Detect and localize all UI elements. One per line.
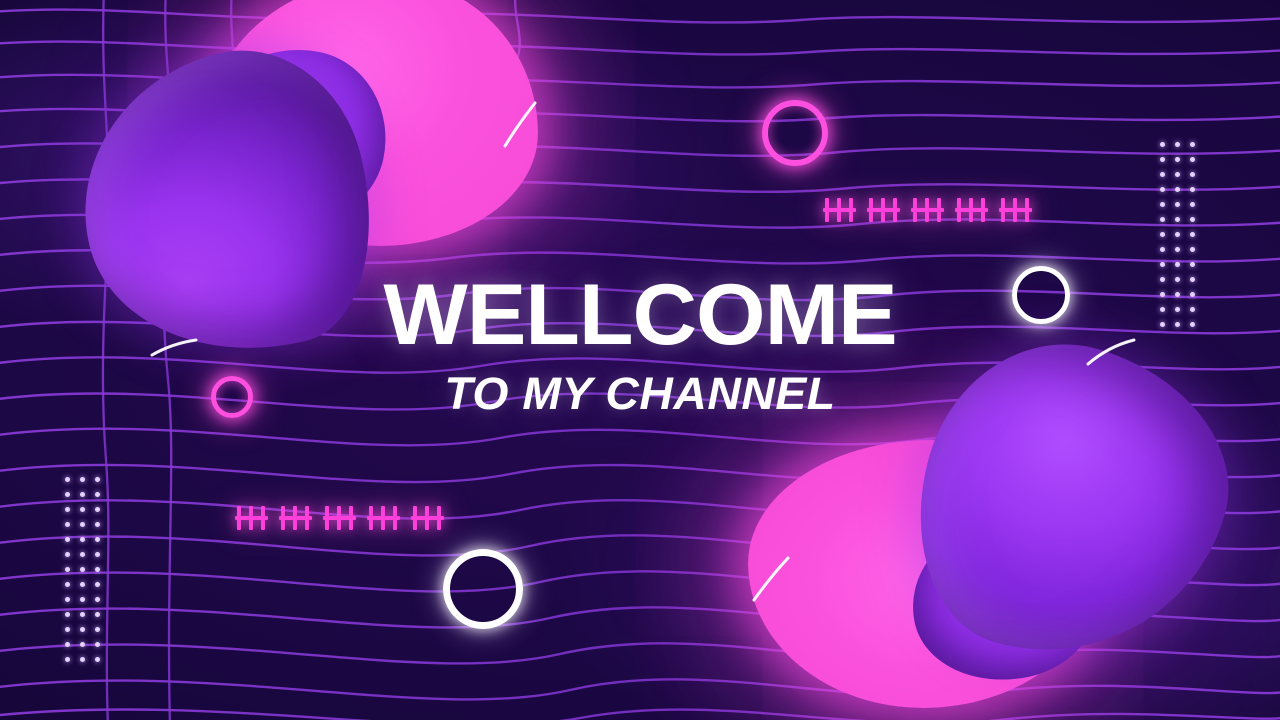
arc-top-center <box>505 103 535 146</box>
headline-block: WELLCOME TO MY CHANNEL <box>0 274 1280 416</box>
page-title: WELLCOME <box>0 274 1280 357</box>
arc-bottom-center <box>754 558 788 600</box>
welcome-banner: WELLCOME TO MY CHANNEL <box>0 0 1280 720</box>
page-subtitle: TO MY CHANNEL <box>0 371 1280 416</box>
